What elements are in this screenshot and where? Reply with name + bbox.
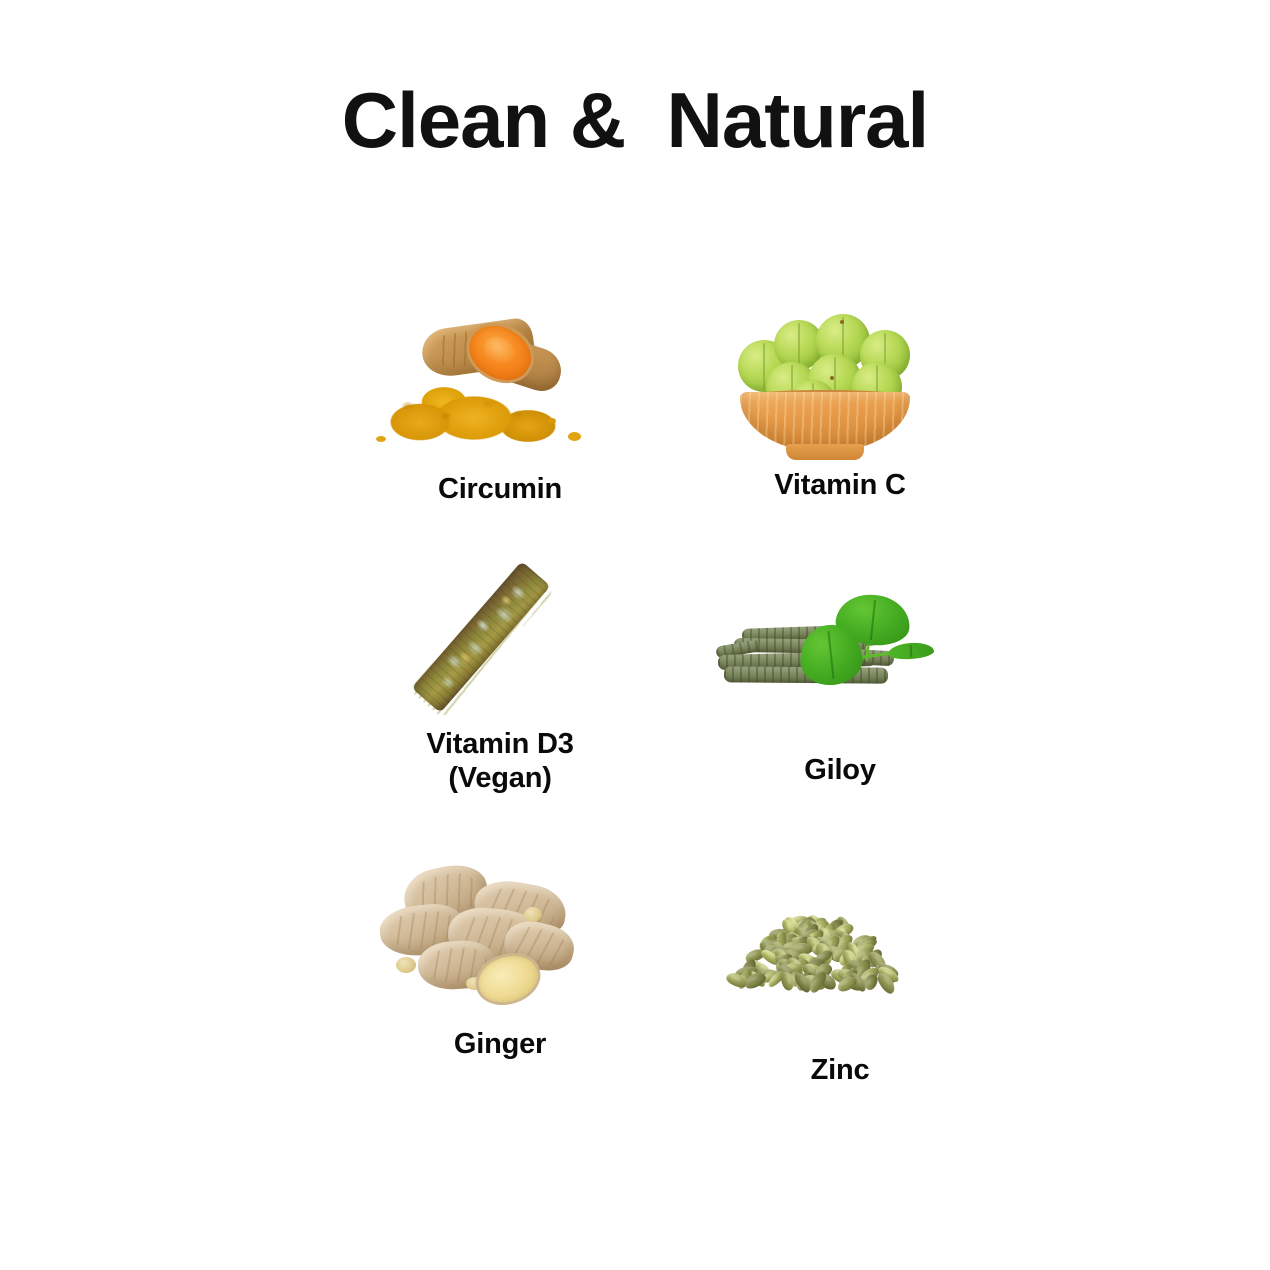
- ingredient-card-vitamin-d3: Vitamin D3 (Vegan): [350, 555, 650, 795]
- vitamin-d3-image: [350, 555, 650, 715]
- bowl-foot: [786, 444, 864, 460]
- ginger-nub: [524, 907, 542, 922]
- ingredient-grid: Circumin: [330, 290, 950, 1090]
- vitamin-c-image: [690, 290, 990, 450]
- ingredient-card-giloy: Giloy: [690, 575, 990, 787]
- ingredient-card-vitamin-c: Vitamin C: [690, 290, 990, 502]
- turmeric-crumb: [568, 432, 581, 441]
- ingredient-card-zinc: Zinc: [690, 875, 990, 1087]
- ginger-illustration: [374, 861, 586, 1009]
- pumpkin-seeds-illustration: [720, 907, 910, 997]
- turmeric-powder-pile: [378, 386, 563, 446]
- ingredient-card-ginger: Ginger: [350, 855, 650, 1061]
- circumin-image: [350, 300, 650, 460]
- ingredient-card-circumin: Circumin: [350, 300, 650, 506]
- wooden-bowl: [740, 392, 910, 452]
- lichen-branch-illustration: [408, 559, 558, 714]
- ingredient-label-vitamin-c: Vitamin C: [690, 468, 990, 502]
- zinc-image: [690, 875, 990, 1035]
- ginger-image: [350, 855, 650, 1015]
- poster-canvas: Clean & Natural Circumin: [0, 0, 1270, 1270]
- ingredient-label-zinc: Zinc: [690, 1053, 990, 1087]
- ingredient-label-giloy: Giloy: [690, 753, 990, 787]
- page-title: Clean & Natural: [0, 78, 1270, 164]
- lichen-branch: [412, 561, 551, 713]
- ingredient-label-vitamin-d3: Vitamin D3 (Vegan): [350, 727, 650, 795]
- turmeric-illustration: [372, 314, 587, 459]
- giloy-leaf: [887, 641, 934, 660]
- turmeric-crumb: [548, 418, 556, 424]
- ginger-nub: [396, 957, 416, 973]
- amla-bowl-illustration: [730, 306, 920, 456]
- giloy-image: [690, 575, 990, 735]
- amla-stem-dot: [840, 320, 844, 324]
- turmeric-crumb: [376, 436, 386, 442]
- giloy-illustration: [712, 591, 932, 726]
- ingredient-label-ginger: Ginger: [350, 1027, 650, 1061]
- amla-stem-dot: [830, 376, 834, 380]
- ingredient-label-circumin: Circumin: [350, 472, 650, 506]
